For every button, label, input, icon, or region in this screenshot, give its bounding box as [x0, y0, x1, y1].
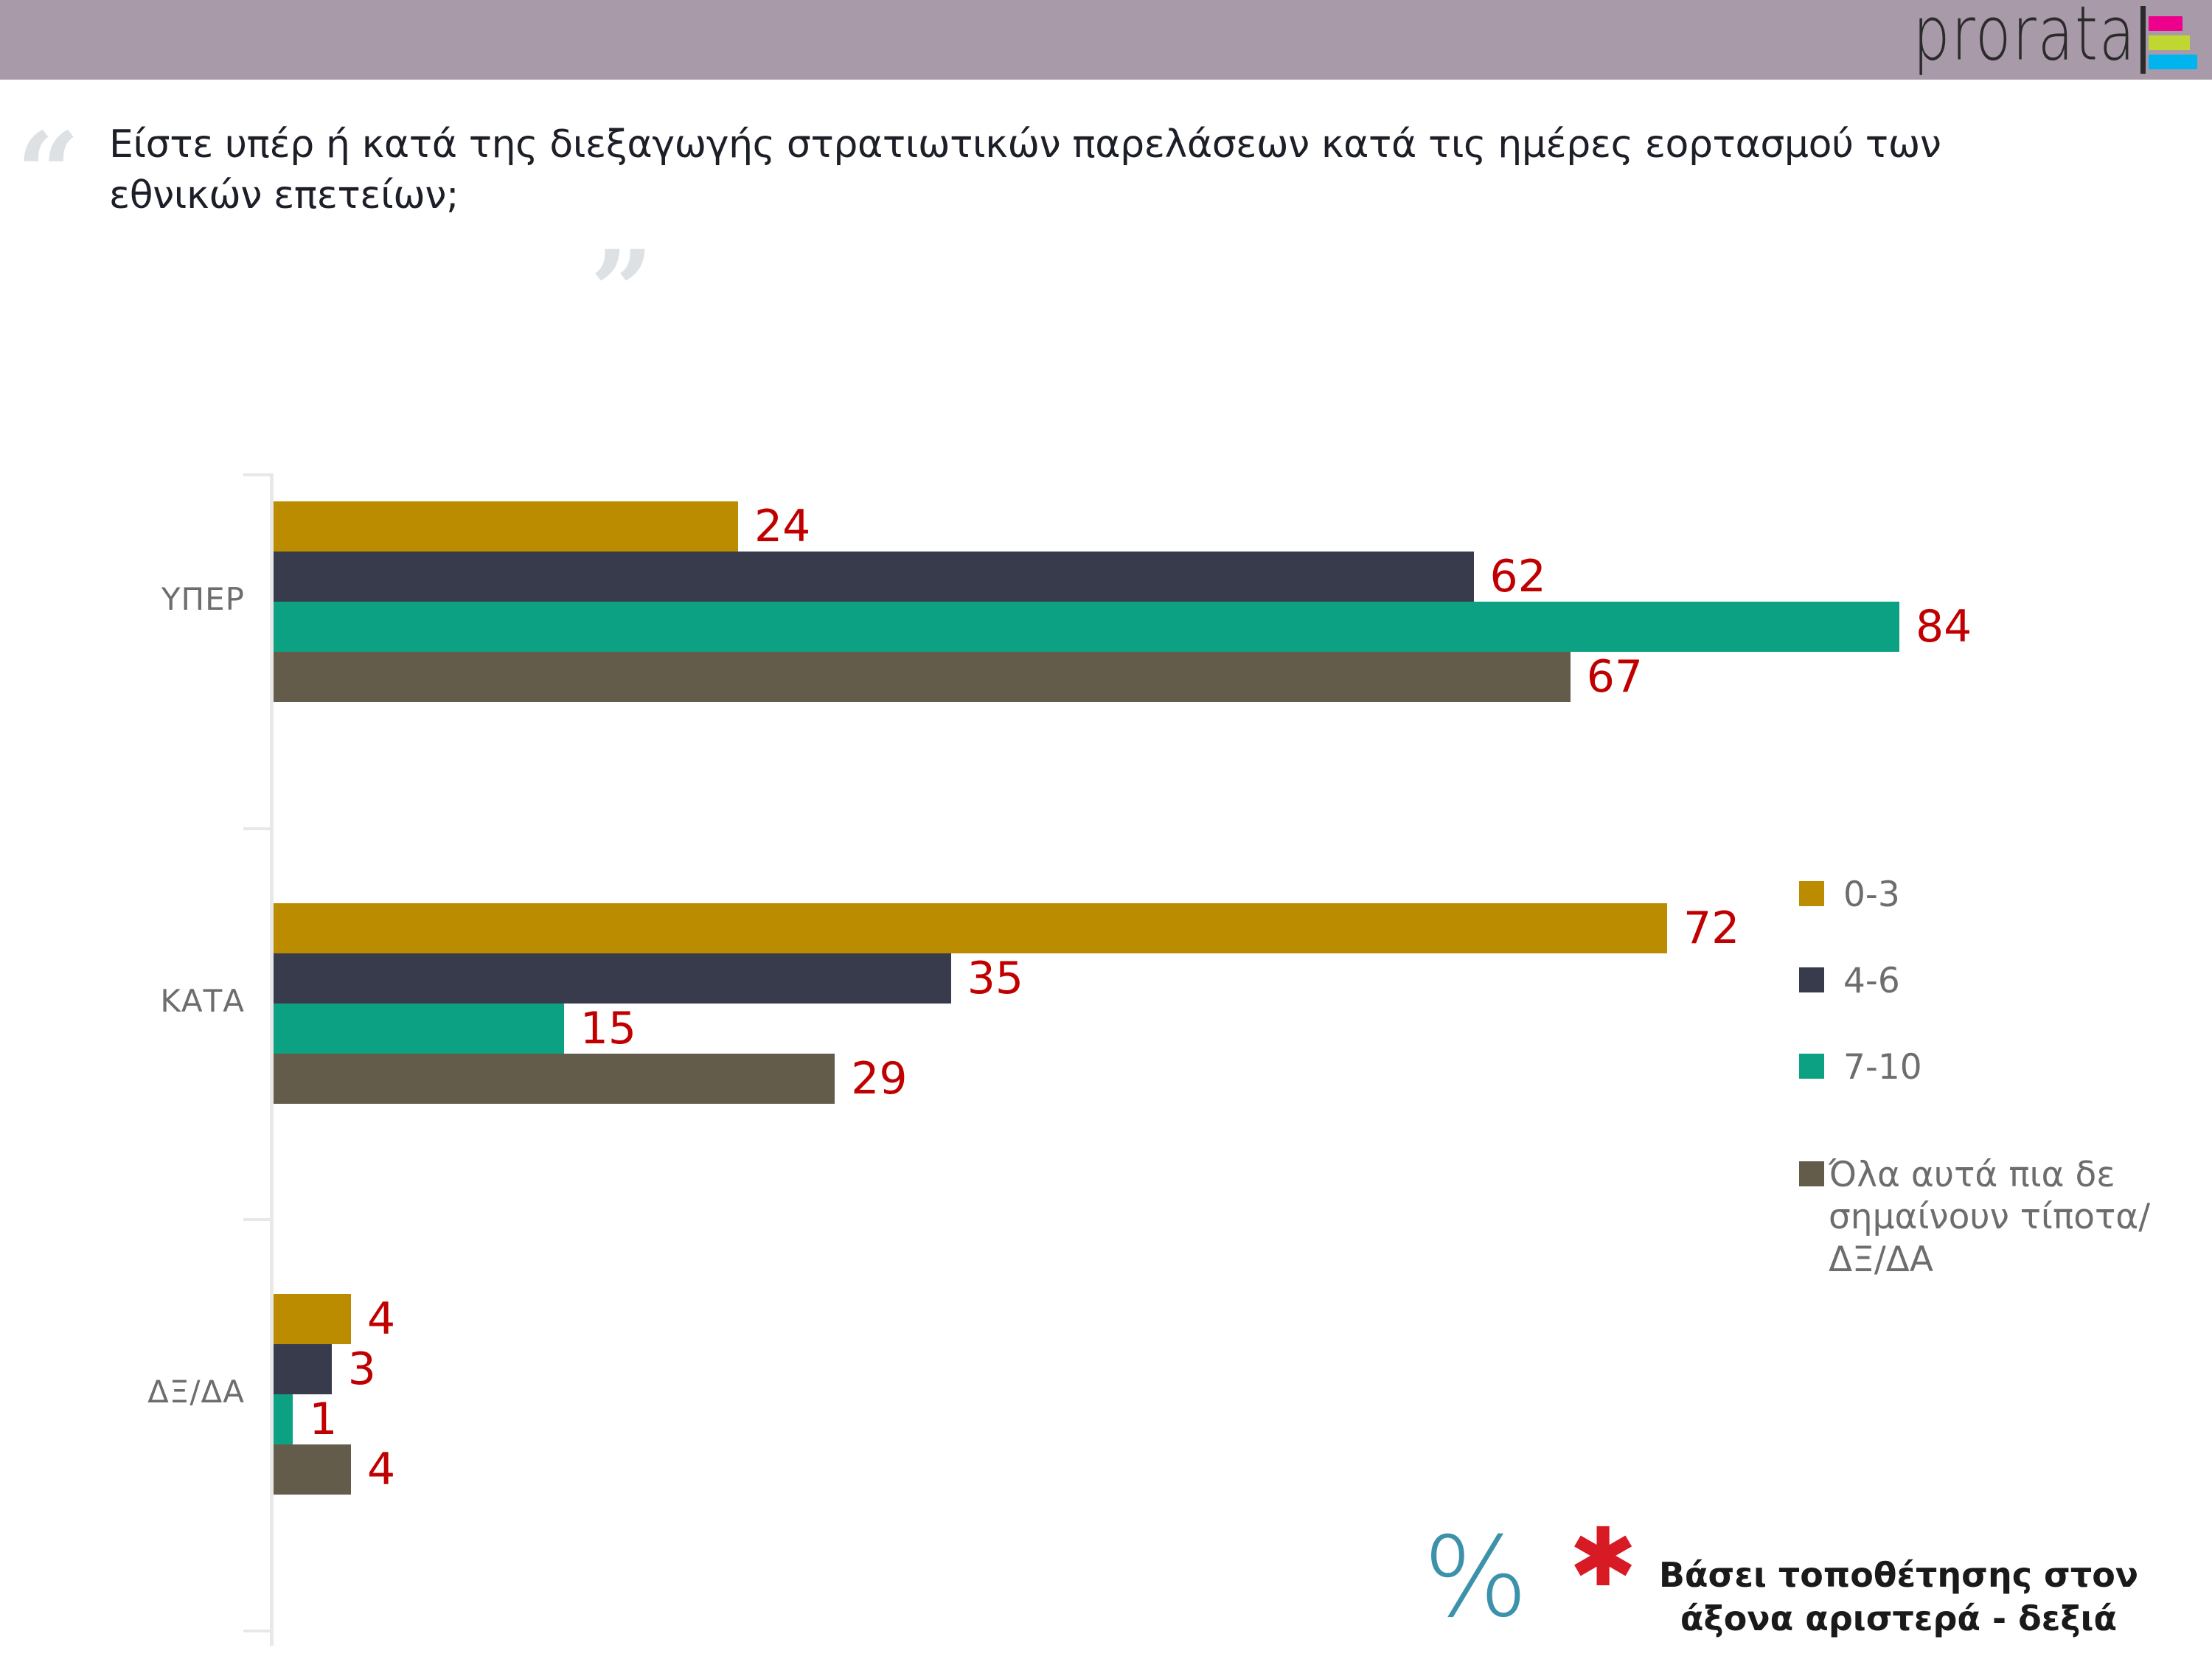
axis-tick — [243, 1218, 270, 1221]
bar-value-label: 24 — [738, 501, 810, 552]
footer-note: % ✱ Βάσει τοποθέτησης στον άξονα αριστερ… — [1423, 1523, 2212, 1659]
bar-0-3[interactable] — [274, 1294, 351, 1344]
legend-item-2[interactable]: 7-10 — [1799, 1046, 1922, 1088]
legend-label: 7-10 — [1843, 1046, 1922, 1088]
bar-row[interactable]: 67 — [274, 652, 1571, 702]
bar-row[interactable]: 62 — [274, 552, 1474, 602]
quote-close-icon: ” — [590, 236, 653, 347]
legend-swatch-icon — [1799, 967, 1824, 992]
bar-row[interactable]: 4 — [274, 1294, 351, 1344]
bar-0-3[interactable] — [274, 501, 738, 552]
bar-other[interactable] — [274, 1444, 351, 1495]
bar-value-label: 29 — [835, 1053, 907, 1105]
legend-item-0[interactable]: 0-3 — [1799, 874, 1900, 916]
logo-divider-bar — [2140, 6, 2146, 74]
legend-label: 4-6 — [1843, 960, 1900, 1002]
bar-value-label: 4 — [351, 1293, 395, 1345]
bar-row[interactable]: 72 — [274, 903, 1667, 953]
axis-tick — [243, 827, 270, 830]
category-label-1: ΚΑΤΑ — [0, 983, 245, 1019]
bar-group: ΥΠΕΡ24628467 — [0, 501, 2212, 702]
logo-swatch-green-icon — [2149, 35, 2190, 50]
bar-value-label: 62 — [1474, 551, 1546, 602]
bar-7-10[interactable] — [274, 1004, 564, 1054]
bar-row[interactable]: 24 — [274, 501, 738, 552]
legend-swatch-icon — [1799, 881, 1824, 906]
legend-swatch-icon — [1799, 1161, 1824, 1186]
bar-4-6[interactable] — [274, 953, 951, 1004]
bar-other[interactable] — [274, 1054, 835, 1104]
bar-value-label: 72 — [1667, 902, 1739, 954]
bar-value-label: 3 — [332, 1343, 376, 1395]
bar-value-label: 35 — [951, 953, 1023, 1004]
axis-tick — [243, 1630, 270, 1632]
bar-value-label: 4 — [351, 1444, 395, 1495]
bar-other[interactable] — [274, 652, 1571, 702]
bar-row[interactable]: 29 — [274, 1054, 835, 1104]
logo-swatch-blue-icon — [2149, 55, 2197, 69]
prorata-logo: prorata — [1893, 3, 2197, 77]
bar-row[interactable]: 3 — [274, 1344, 332, 1394]
legend-swatch-icon — [1799, 1054, 1824, 1079]
bar-value-label: 67 — [1571, 651, 1643, 703]
bar-row[interactable]: 4 — [274, 1444, 351, 1495]
bar-0-3[interactable] — [274, 903, 1667, 953]
logo-swatches — [2149, 3, 2197, 77]
bar-value-label: 15 — [564, 1003, 636, 1054]
percent-icon: % — [1423, 1523, 1528, 1633]
bar-value-label: 84 — [1899, 601, 1972, 653]
bar-value-label: 1 — [293, 1394, 337, 1445]
logo-wordmark: prorata — [1913, 0, 2136, 72]
bar-row[interactable]: 35 — [274, 953, 951, 1004]
bar-7-10[interactable] — [274, 602, 1899, 652]
footnote-text: Βάσει τοποθέτησης στον άξονα αριστερά - … — [1607, 1554, 2190, 1641]
category-label-2: ΔΞ/ΔΑ — [0, 1374, 245, 1410]
bar-4-6[interactable] — [274, 552, 1474, 602]
bar-7-10[interactable] — [274, 1394, 293, 1444]
category-label-0: ΥΠΕΡ — [0, 581, 245, 617]
bar-row[interactable]: 15 — [274, 1004, 564, 1054]
legend-label: 0-3 — [1843, 874, 1900, 916]
legend-item-1[interactable]: 4-6 — [1799, 960, 1900, 1002]
bar-row[interactable]: 1 — [274, 1394, 293, 1444]
legend-item-3[interactable]: Όλα αυτά πια δε σημαίνουν τίποτα/ΔΞ/ΔΑ — [1799, 1154, 2175, 1281]
header-band: prorata — [0, 0, 2212, 80]
legend-label: Όλα αυτά πια δε σημαίνουν τίποτα/ΔΞ/ΔΑ — [1829, 1154, 2175, 1281]
axis-tick — [243, 473, 270, 476]
page-title: Είστε υπέρ ή κατά της διεξαγωγής στρατιω… — [109, 119, 2100, 221]
bar-row[interactable]: 84 — [274, 602, 1899, 652]
bar-4-6[interactable] — [274, 1344, 332, 1394]
bar-group: ΔΞ/ΔΑ4314 — [0, 1294, 2212, 1495]
quote-open-icon: “ — [16, 118, 80, 229]
logo-swatch-pink-icon — [2149, 16, 2183, 31]
